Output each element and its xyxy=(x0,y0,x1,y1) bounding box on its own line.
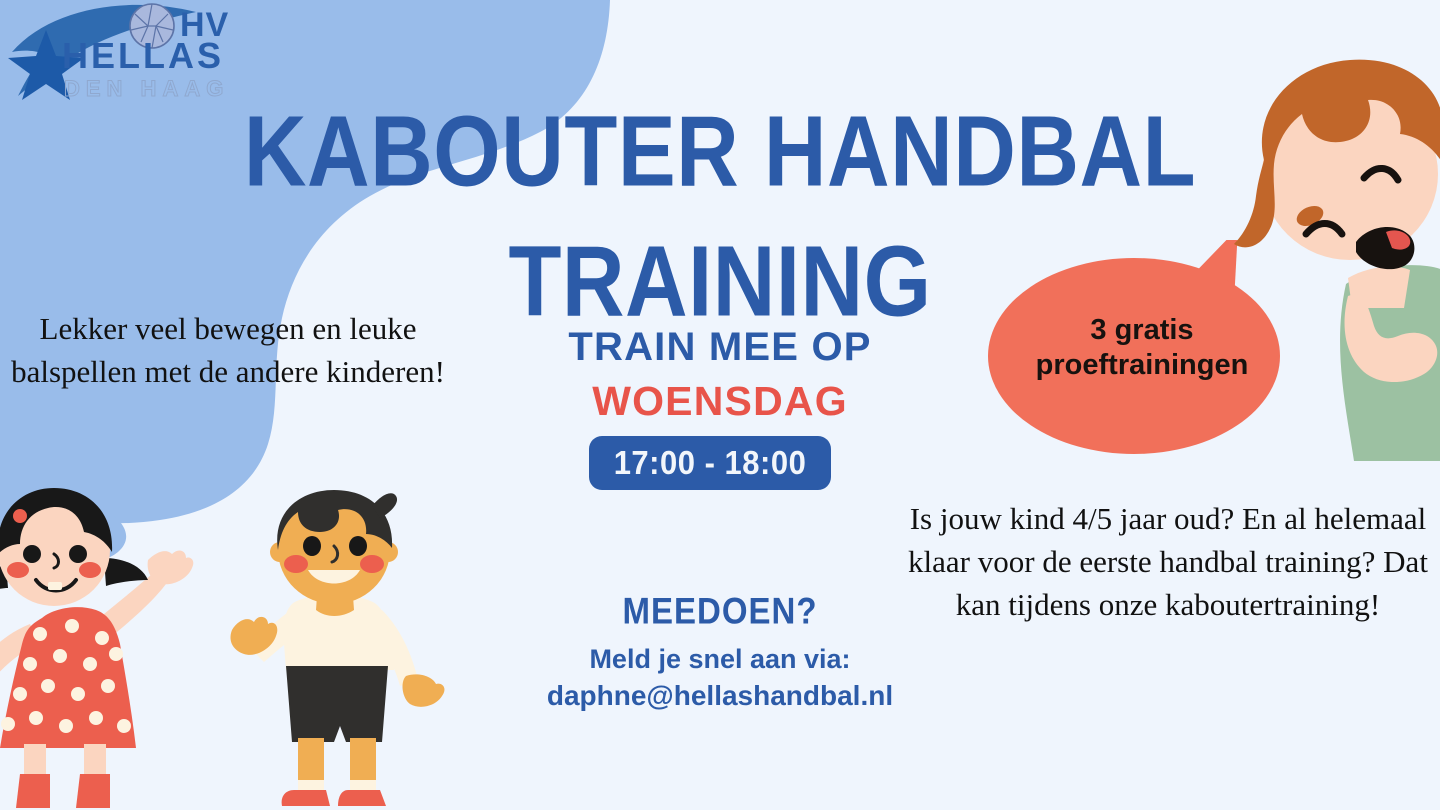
boy-cheek-right xyxy=(360,555,384,573)
girl-hair-clip xyxy=(13,509,27,523)
signup-instruction: Meld je snel aan via: xyxy=(430,644,1010,675)
illustration-girl xyxy=(0,482,196,810)
boy-shorts xyxy=(286,666,388,742)
signup-heading: MEEDOEN? xyxy=(430,590,1010,633)
boy-eye-left-icon xyxy=(303,536,321,556)
boy-cheek-left xyxy=(284,555,308,573)
girl-boot-right xyxy=(76,774,110,808)
poster-canvas: HV HELLAS DEN HAAG KABOUTER HANDBAL TRAI… xyxy=(0,0,1440,810)
signup-email-link[interactable]: daphne@hellashandbal.nl xyxy=(430,680,1010,712)
girl-eye-right-icon xyxy=(69,545,87,563)
training-time-badge: 17:00 - 18:00 xyxy=(589,436,831,490)
logo-city: DEN HAAG xyxy=(64,76,229,101)
girl-teeth xyxy=(48,582,62,590)
girl-cheek-right xyxy=(79,562,101,578)
illustration-boy xyxy=(214,488,452,810)
girl-eye-left-icon xyxy=(23,545,41,563)
girl-cheek-left xyxy=(7,562,29,578)
illustration-laughing-child xyxy=(1228,56,1440,461)
boy-eye-right-icon xyxy=(349,536,367,556)
boy-shoe-right xyxy=(338,790,386,806)
club-logo[interactable]: HV HELLAS DEN HAAG xyxy=(0,0,268,108)
girl-leg-right xyxy=(84,744,106,778)
girl-hand-right xyxy=(148,551,194,585)
boy-hand-right xyxy=(403,674,445,706)
girl-leg-left xyxy=(24,744,46,778)
girl-boot-left xyxy=(16,774,50,808)
girl-pigtail-right xyxy=(104,558,148,586)
boy-shoe-left xyxy=(282,790,330,806)
left-description-text: Lekker veel bewegen en leuke balspellen … xyxy=(0,308,458,394)
logo-club-name: HELLAS xyxy=(62,35,224,76)
training-time-label: 17:00 - 18:00 xyxy=(614,444,807,483)
